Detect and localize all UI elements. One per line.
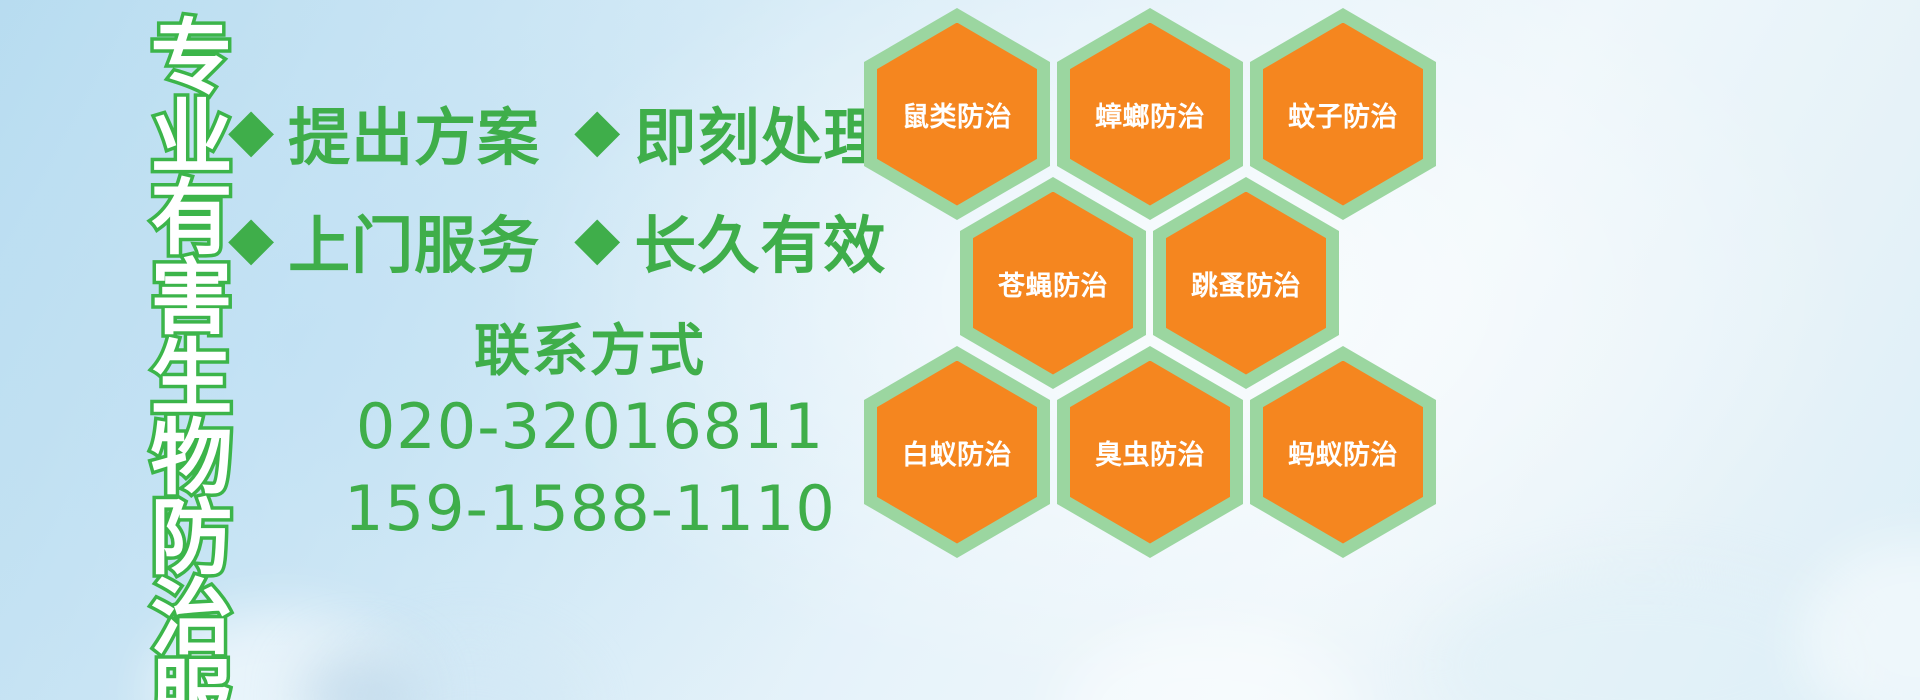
feature-item-propose-plan: ◆ 提出方案 [228, 87, 540, 177]
background-blur-blob [1430, 570, 1850, 700]
hex-label: 鼠类防治 [902, 95, 1012, 134]
background-blur-blob [360, 640, 580, 700]
background-blur-blob [300, 650, 420, 700]
hex-inner: 蚊子防治 [1263, 23, 1423, 206]
diamond-bullet-icon: ◆ [228, 208, 274, 268]
feature-label: 即刻处理 [634, 87, 886, 177]
feature-row: ◆ 上门服务 ◆ 长久有效 [228, 186, 878, 294]
hex-label: 苍蝇防治 [998, 264, 1108, 303]
hex-inner: 白蚁防治 [877, 361, 1037, 544]
hex-inner: 苍蝇防治 [973, 192, 1133, 375]
phone-number-mobile[interactable]: 159-1588-1110 [300, 468, 880, 550]
hex-label: 蟑螂防治 [1095, 95, 1205, 134]
hex-cell-fly-control[interactable]: 苍蝇防治 [960, 177, 1146, 389]
background-blur-blob [1060, 625, 1360, 700]
service-honeycomb: 鼠类防治 蟑螂防治 蚊子防治 苍蝇防治 跳蚤防治 白蚁防治 [856, 0, 1476, 580]
feature-row: ◆ 提出方案 ◆ 即刻处理 [228, 78, 878, 186]
feature-list: ◆ 提出方案 ◆ 即刻处理 ◆ 上门服务 ◆ 长久有效 [228, 78, 878, 294]
hex-cell-termite-control[interactable]: 白蚁防治 [864, 346, 1050, 558]
hex-cell-flea-control[interactable]: 跳蚤防治 [1153, 177, 1339, 389]
hex-cell-mosquito-control[interactable]: 蚊子防治 [1250, 8, 1436, 220]
feature-item-immediate-handling: ◆ 即刻处理 [574, 87, 886, 177]
feature-item-onsite-service: ◆ 上门服务 [228, 195, 540, 285]
hex-label: 臭虫防治 [1095, 433, 1205, 472]
hex-inner: 臭虫防治 [1070, 361, 1230, 544]
background-blur-blob [1800, 540, 1920, 700]
vertical-headline: 专业有害生物防治服务 [96, 14, 224, 700]
hex-label: 白蚁防治 [902, 433, 1012, 472]
hex-cell-cockroach-control[interactable]: 蟑螂防治 [1057, 8, 1243, 220]
feature-label: 上门服务 [288, 195, 540, 285]
promo-banner: 专业有害生物防治服务 ◆ 提出方案 ◆ 即刻处理 ◆ 上门服务 ◆ 长久有效 联… [0, 0, 1920, 700]
hex-cell-bedbug-control[interactable]: 臭虫防治 [1057, 346, 1243, 558]
hex-inner: 蚂蚁防治 [1263, 361, 1423, 544]
feature-label: 长久有效 [634, 195, 886, 285]
contact-block: 联系方式 020-32016811 159-1588-1110 [300, 316, 880, 550]
diamond-bullet-icon: ◆ [574, 100, 620, 160]
hex-label: 蚂蚁防治 [1288, 433, 1398, 472]
diamond-bullet-icon: ◆ [228, 100, 274, 160]
hex-inner: 跳蚤防治 [1166, 192, 1326, 375]
hex-label: 蚊子防治 [1288, 95, 1398, 134]
hex-label: 跳蚤防治 [1191, 264, 1301, 303]
contact-title: 联系方式 [300, 316, 880, 386]
hex-inner: 鼠类防治 [877, 23, 1037, 206]
hex-cell-rodent-control[interactable]: 鼠类防治 [864, 8, 1050, 220]
hex-inner: 蟑螂防治 [1070, 23, 1230, 206]
hex-cell-ant-control[interactable]: 蚂蚁防治 [1250, 346, 1436, 558]
feature-label: 提出方案 [288, 87, 540, 177]
diamond-bullet-icon: ◆ [574, 208, 620, 268]
feature-item-long-lasting: ◆ 长久有效 [574, 195, 886, 285]
phone-number-landline[interactable]: 020-32016811 [300, 386, 880, 468]
